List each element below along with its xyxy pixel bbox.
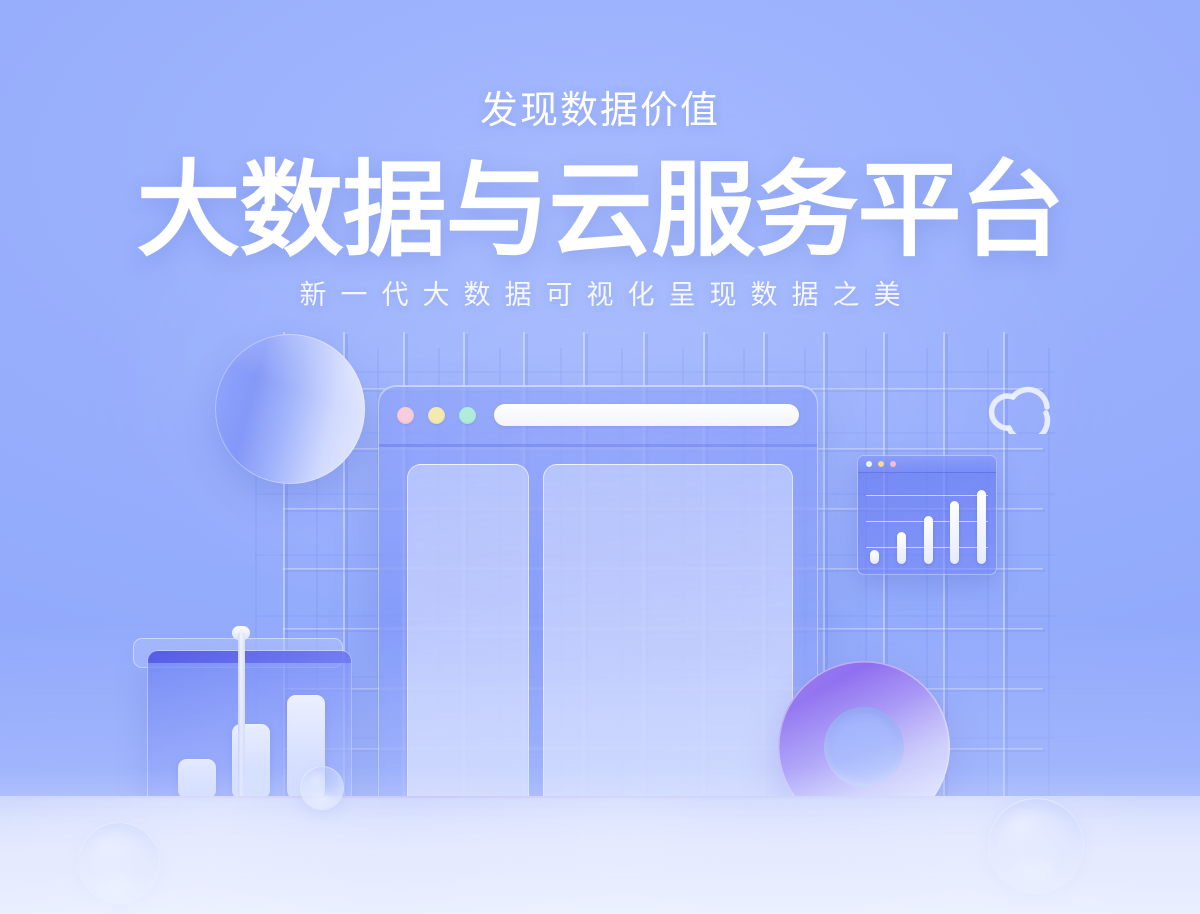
mini-maximize-dot-icon[interactable] xyxy=(890,461,896,467)
card-bar-A xyxy=(178,759,216,799)
browser-toolbar-divider xyxy=(379,444,817,447)
mini-bar-series xyxy=(870,487,986,564)
mini-bar-4 xyxy=(950,501,959,564)
browser-titlebar xyxy=(379,386,817,444)
mini-bar-5 xyxy=(977,490,986,564)
mini-window-titlebar xyxy=(858,456,996,473)
floor-horizon-line xyxy=(0,796,1200,798)
page-title: 大数据与云服务平台 xyxy=(0,158,1200,264)
hero-banner-stage: 发现数据价值 大数据与云服务平台 新一代大数据可视化呈现数据之美 xyxy=(0,0,1200,914)
content-pane[interactable] xyxy=(543,464,793,810)
mini-bar-3 xyxy=(924,516,933,564)
glass-sphere-right xyxy=(988,798,1084,894)
mini-bar-2 xyxy=(897,532,906,564)
mini-close-dot-icon[interactable] xyxy=(866,461,872,467)
browser-window[interactable] xyxy=(378,385,818,810)
hero-eyebrow: 发现数据价值 xyxy=(0,92,1200,130)
mini-bar-1 xyxy=(870,550,879,564)
minimize-dot-icon[interactable] xyxy=(428,407,445,424)
mini-chart-plot-area xyxy=(858,473,996,574)
hero-subtitle: 新一代大数据可视化呈现数据之美 xyxy=(0,282,1200,309)
address-bar-input[interactable] xyxy=(494,404,799,426)
glass-disc xyxy=(215,334,365,484)
mini-chart-window[interactable] xyxy=(857,455,997,575)
cloud-outline-icon xyxy=(978,368,1064,434)
card-header-strip xyxy=(148,651,351,663)
close-dot-icon[interactable] xyxy=(397,407,414,424)
glass-sphere-left xyxy=(78,822,160,904)
glass-sphere-mid xyxy=(300,766,344,810)
mini-minimize-dot-icon[interactable] xyxy=(878,461,884,467)
torus-inner-hole xyxy=(824,707,904,787)
hero-text-block: 发现数据价值 大数据与云服务平台 新一代大数据可视化呈现数据之美 xyxy=(0,0,1200,309)
sidebar-pane[interactable] xyxy=(407,464,529,810)
maximize-dot-icon[interactable] xyxy=(459,407,476,424)
